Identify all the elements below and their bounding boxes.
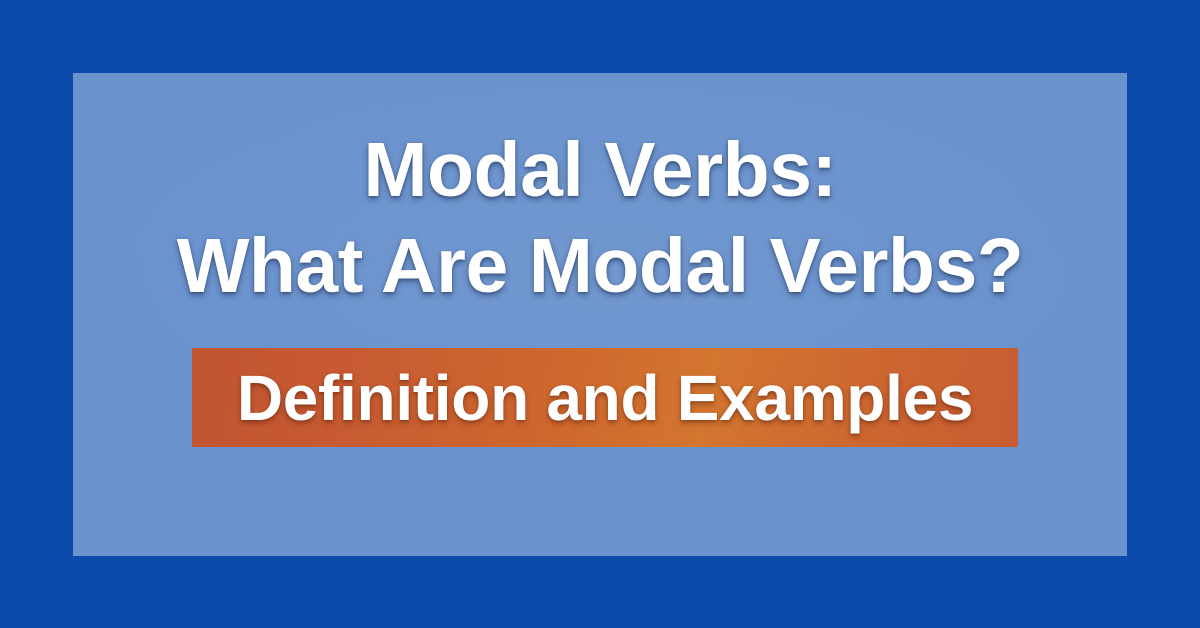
title-line-2: What Are Modal Verbs? [0, 218, 1200, 314]
subtitle-text: Definition and Examples [237, 363, 973, 433]
title-line-1: Modal Verbs: [0, 122, 1200, 218]
title-block: Modal Verbs: What Are Modal Verbs? [0, 122, 1200, 314]
title-card: Modal Verbs: What Are Modal Verbs? Defin… [0, 0, 1200, 628]
subtitle-highlight-bar: Definition and Examples [192, 348, 1018, 447]
